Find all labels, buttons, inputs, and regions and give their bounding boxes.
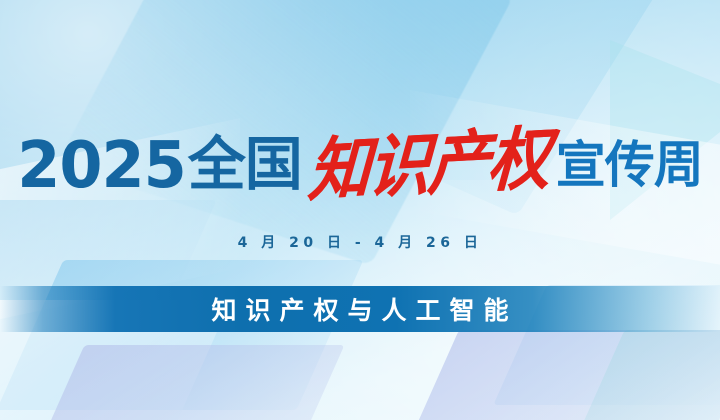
- title-brush-script-ip: 知识产权: [306, 124, 549, 205]
- ip-week-poster: 2025 全国 知识产权 宣传周 4 月 20 日 - 4 月 26 日 知识产…: [0, 0, 720, 420]
- background-decoration: [0, 0, 720, 420]
- subtitle-theme: 知识产权与人工智能: [202, 291, 517, 327]
- parallelogram-bottom-left-3: [36, 345, 345, 420]
- title-year: 2025: [17, 133, 186, 197]
- date-range: 4 月 20 日 - 4 月 26 日: [0, 232, 720, 252]
- title-nationwide: 全国: [188, 136, 302, 194]
- subtitle-band: 知识产权与人工智能: [0, 286, 720, 332]
- page-title: 2025 全国 知识产权 宣传周: [0, 124, 720, 206]
- title-publicity-week: 宣传周: [556, 140, 703, 190]
